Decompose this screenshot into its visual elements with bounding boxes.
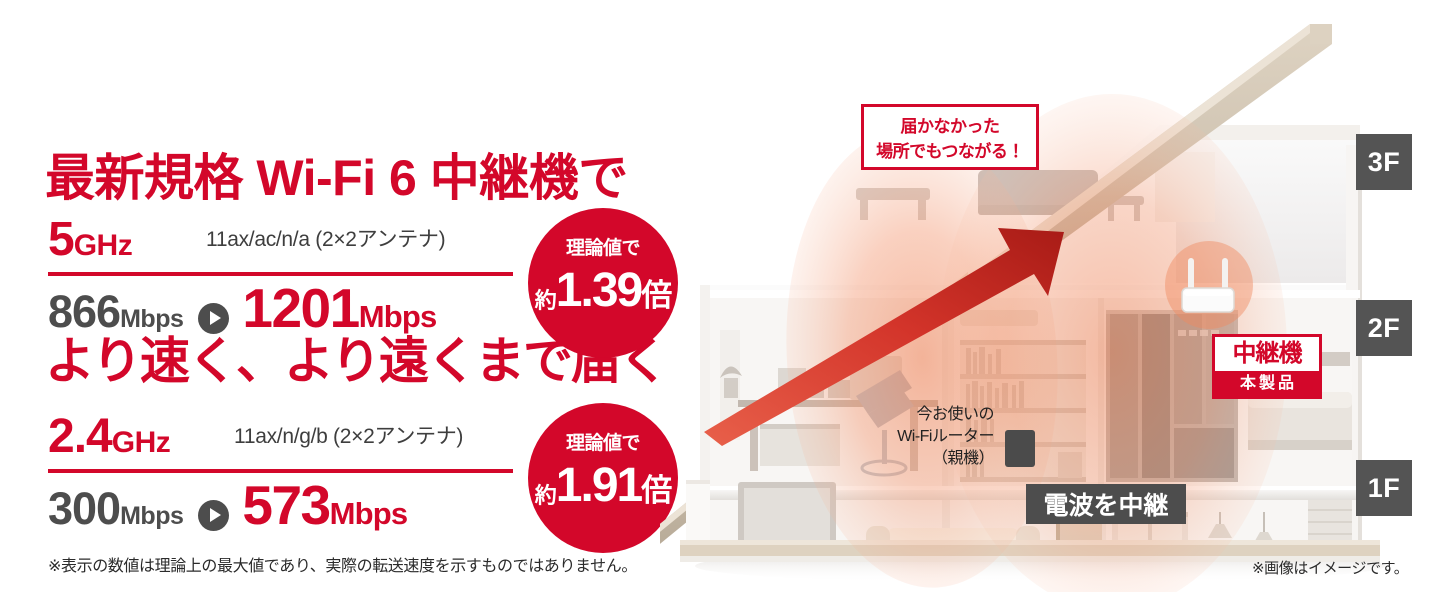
router-label-line-1: 今お使いの bbox=[860, 404, 994, 426]
play-arrow-icon bbox=[198, 303, 229, 334]
play-arrow-icon bbox=[198, 500, 229, 531]
router-label-line-2: Wi-Fiルーター bbox=[860, 426, 994, 448]
multiplier-badge-24ghz: 理論値で 約1.91倍 bbox=[528, 403, 678, 553]
repeater-callout: 中継機 本製品 bbox=[1212, 334, 1322, 399]
repeater-device bbox=[1165, 241, 1253, 329]
badge-value-row: 約1.91倍 bbox=[528, 460, 678, 523]
old-speed-unit: Mbps bbox=[120, 305, 183, 333]
router-label-line-3: （親機） bbox=[860, 448, 994, 470]
badge-value-row: 約1.39倍 bbox=[528, 265, 678, 328]
relay-banner: 電波を中継 bbox=[1026, 484, 1186, 524]
divider-24ghz bbox=[48, 469, 513, 473]
spec-block-24ghz: 2.4GHz 11ax/n/g/b (2×2アンテナ) 300Mbps 573M… bbox=[48, 413, 513, 467]
disclaimer-image: ※画像はイメージです。 bbox=[1252, 557, 1408, 578]
new-speed-5ghz: 1201Mbps bbox=[242, 282, 436, 343]
standard-label-5ghz: 11ax/ac/n/a (2×2アンテナ) bbox=[206, 229, 445, 250]
disclaimer-speed: ※表示の数値は理論上の最大値であり、実際の転送速度を示すものではありません。 bbox=[48, 552, 637, 576]
badge-caption: 理論値で bbox=[528, 403, 678, 454]
old-speed-value: 866 bbox=[48, 286, 120, 337]
old-speed-5ghz: 866Mbps bbox=[48, 286, 183, 345]
floor-label-3f: 3F bbox=[1356, 134, 1412, 190]
band-unit: GHz bbox=[74, 229, 133, 262]
old-speed-24ghz: 300Mbps bbox=[48, 483, 183, 542]
badge-caption: 理論値で bbox=[528, 208, 678, 259]
headline-line-1: 最新規格 Wi-Fi 6 中継機で bbox=[45, 148, 705, 209]
spec-header-5ghz: 5GHz 11ax/ac/n/a (2×2アンテナ) bbox=[48, 216, 513, 270]
callout-line-1: 届かなかった bbox=[864, 114, 1036, 139]
floor-label-2f: 2F bbox=[1356, 300, 1412, 356]
repeater-title: 中継機 bbox=[1215, 337, 1319, 371]
new-speed-24ghz: 573Mbps bbox=[242, 479, 407, 540]
badge-approx: 約 bbox=[535, 288, 556, 313]
old-speed-value: 300 bbox=[48, 483, 120, 534]
router-label: 今お使いの Wi-Fiルーター （親機） bbox=[860, 404, 994, 470]
band-label-24ghz: 2.4GHz bbox=[48, 413, 170, 467]
band-number: 5 bbox=[48, 213, 74, 266]
badge-multiplier: 1.91 bbox=[556, 459, 641, 512]
new-speed-unit: Mbps bbox=[330, 496, 408, 531]
standard-label-24ghz: 11ax/n/g/b (2×2アンテナ) bbox=[234, 426, 463, 447]
new-speed-unit: Mbps bbox=[359, 299, 437, 334]
floor-label-1f: 1F bbox=[1356, 460, 1412, 516]
spec-block-5ghz: 5GHz 11ax/ac/n/a (2×2アンテナ) 866Mbps 1201M… bbox=[48, 216, 513, 270]
old-speed-unit: Mbps bbox=[120, 502, 183, 530]
new-speed-value: 573 bbox=[242, 474, 329, 536]
badge-approx: 約 bbox=[535, 483, 556, 508]
band-number: 2.4 bbox=[48, 410, 112, 463]
callout-line-2: 場所でもつながる！ bbox=[864, 139, 1036, 164]
speed-row-5ghz: 866Mbps 1201Mbps bbox=[48, 282, 436, 345]
badge-multiplier: 1.39 bbox=[556, 264, 641, 317]
advertisement-banner: 最新規格 Wi-Fi 6 中継機で より速く、より遠くまで届く 5GHz 11a… bbox=[0, 0, 1445, 592]
band-unit: GHz bbox=[112, 426, 171, 459]
spec-header-24ghz: 2.4GHz 11ax/n/g/b (2×2アンテナ) bbox=[48, 413, 513, 467]
divider-5ghz bbox=[48, 272, 513, 276]
callout-bubble: 届かなかった 場所でもつながる！ bbox=[861, 104, 1039, 170]
speed-row-24ghz: 300Mbps 573Mbps bbox=[48, 479, 407, 542]
router-device-icon bbox=[1005, 430, 1035, 467]
multiplier-badge-5ghz: 理論値で 約1.39倍 bbox=[528, 208, 678, 358]
new-speed-value: 1201 bbox=[242, 277, 358, 339]
repeater-subtitle: 本製品 bbox=[1215, 371, 1319, 396]
band-label-5ghz: 5GHz bbox=[48, 216, 132, 270]
spec-panel: 最新規格 Wi-Fi 6 中継機で より速く、より遠くまで届く 5GHz 11a… bbox=[0, 0, 700, 592]
